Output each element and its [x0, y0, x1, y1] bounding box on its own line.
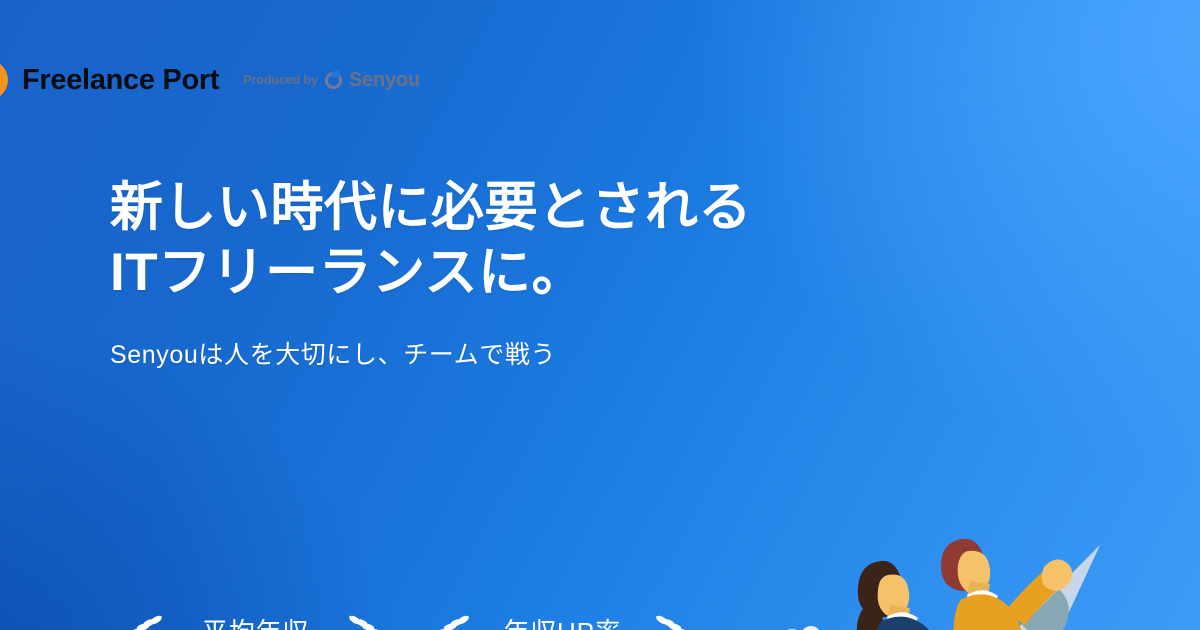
laurel-wreath-right-icon — [339, 613, 395, 630]
logo-circle-orange-icon — [0, 60, 8, 100]
headline-line-1: 新しい時代に必要とされる — [110, 176, 810, 241]
laurel-wreath-left-icon — [423, 613, 479, 630]
hero-headline: 新しい時代に必要とされる ITフリーランスに。 — [110, 176, 810, 305]
person-left-figure — [852, 561, 945, 630]
headline-line-2: ITフリーランスに。 — [110, 241, 810, 306]
laurel-wreath-left-icon — [116, 613, 172, 630]
rocket-with-two-people-illustration — [718, 497, 1118, 630]
freelance-port-lockup[interactable]: Freelance Port — [0, 60, 219, 100]
cloud-puff-upper-icon — [780, 626, 821, 630]
laurel-wreath-right-icon — [646, 613, 702, 630]
stat-label: 平均年収 — [180, 619, 331, 630]
producer-name: Senyou — [349, 69, 420, 92]
brand-header: Freelance Port Produced by Senyou — [0, 60, 1140, 100]
hero-copy: 新しい時代に必要とされる ITフリーランスに。 Senyouは人を大切にし、チー… — [110, 176, 810, 371]
stat-badge: 年収UP率 150 % — [415, 609, 710, 630]
hero-banner: Freelance Port Produced by Senyou 新しい時代に… — [0, 0, 1200, 630]
brand-name: Freelance Port — [22, 64, 219, 97]
hero-subheadline: Senyouは人を大切にし、チームで戦う — [110, 335, 810, 371]
freelance-port-logo-mark — [0, 60, 8, 100]
stat-label: 年収UP率 — [501, 619, 625, 630]
senyou-ring-icon — [325, 72, 342, 89]
produced-by-block[interactable]: Produced by Senyou — [243, 69, 420, 92]
stat-badge: 平均年収 840 万円 — [108, 609, 403, 630]
produced-by-label: Produced by — [243, 73, 318, 87]
